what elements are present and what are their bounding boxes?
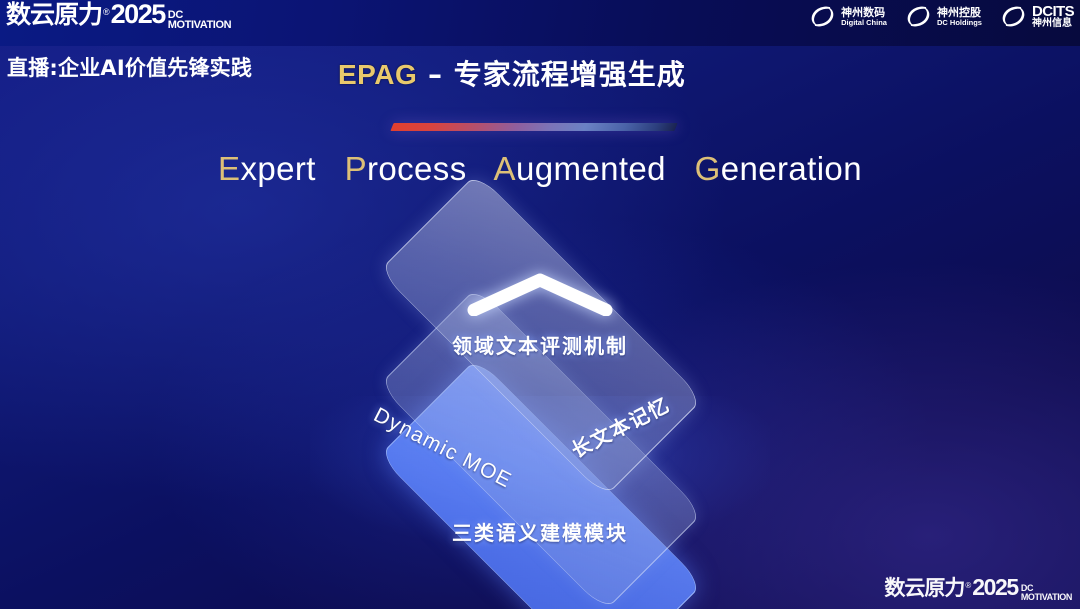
title-chinese: 专家流程增强生成 xyxy=(454,58,686,91)
word-rest: rocess xyxy=(367,150,467,187)
header-band: 数云原力 ® 2025 DC MOTIVATION 神州数码 Digital C… xyxy=(0,0,1080,46)
word-rest: ugmented xyxy=(516,150,666,187)
registered-mark-icon: ® xyxy=(103,7,110,17)
live-broadcast-label: 直播:企业AI价值先锋实践 xyxy=(7,52,252,82)
title-separator: – xyxy=(417,58,454,91)
partner-label: DCITS 神州信息 xyxy=(1032,4,1074,29)
partner-name-en: DC Holdings xyxy=(937,19,982,27)
expanded-word-expert: Expert xyxy=(218,150,316,187)
word-space xyxy=(676,150,686,187)
partner-name-en: 神州信息 xyxy=(1032,19,1074,29)
word-cap: E xyxy=(218,150,240,187)
registered-mark-icon: ® xyxy=(965,581,971,590)
brand-subtitle-line2: MOTIVATION xyxy=(168,20,231,30)
brand-subtitle: DC MOTIVATION xyxy=(168,10,231,30)
word-rest: xpert xyxy=(240,150,315,187)
word-cap: P xyxy=(345,150,367,187)
partner-logo-dc-holdings: 神州控股 DC Holdings xyxy=(905,4,982,29)
swirl-logo-icon xyxy=(809,4,836,29)
watermark-year: 2025 xyxy=(972,576,1018,599)
partner-logo-digital-china: 神州数码 Digital China xyxy=(809,4,887,29)
swirl-logo-icon xyxy=(1000,4,1027,29)
expanded-word-process: Process xyxy=(345,150,467,187)
brand-logo: 数云原力 ® 2025 DC MOTIVATION xyxy=(6,1,231,35)
partner-logo-dcits: DCITS 神州信息 xyxy=(1000,4,1074,29)
word-rest: eneration xyxy=(721,150,862,187)
expanded-title: Expert Process Augmented Generation xyxy=(0,150,1080,188)
partner-name-cn: 神州控股 xyxy=(937,7,982,18)
partner-name-cn: DCITS xyxy=(1032,4,1074,19)
gradient-divider xyxy=(390,123,677,131)
partner-name-en: Digital China xyxy=(841,19,887,27)
expanded-word-generation: Generation xyxy=(695,150,862,187)
swirl-logo-icon xyxy=(905,4,932,29)
brand-name-cn: 数云原力 xyxy=(6,2,102,27)
partner-logo-group: 神州数码 Digital China 神州控股 DC Holdings xyxy=(809,4,1074,29)
title-acronym: EPAG xyxy=(338,59,417,90)
diagram-label-top: 领域文本评测机制 xyxy=(0,330,1080,359)
watermark-subtitle: DC MOTIVATION xyxy=(1021,584,1072,601)
word-cap: G xyxy=(695,150,721,187)
word-space xyxy=(325,150,335,187)
watermark-name-cn: 数云原力 xyxy=(884,578,964,599)
isometric-layer-diagram: 领域文本评测机制 Dynamic MOE 长文本记忆 三类语义建模模块 xyxy=(0,214,1080,584)
partner-label: 神州数码 Digital China xyxy=(841,7,887,26)
expanded-word-augmented: Augmented xyxy=(494,150,666,187)
watermark-subtitle-line2: MOTIVATION xyxy=(1021,593,1072,601)
partner-name-cn: 神州数码 xyxy=(841,7,887,18)
brand-year: 2025 xyxy=(111,1,165,28)
page-title: EPAG – 专家流程增强生成 xyxy=(338,53,686,93)
word-cap: A xyxy=(494,150,516,187)
chevron-up-icon xyxy=(464,272,616,316)
partner-label: 神州控股 DC Holdings xyxy=(937,7,982,26)
diagram-label-bottom: 三类语义建模模块 xyxy=(0,517,1080,546)
slide-canvas: 数云原力 ® 2025 DC MOTIVATION 神州数码 Digital C… xyxy=(0,0,1080,609)
watermark-logo: 数云原力 ® 2025 DC MOTIVATION xyxy=(884,576,1072,605)
